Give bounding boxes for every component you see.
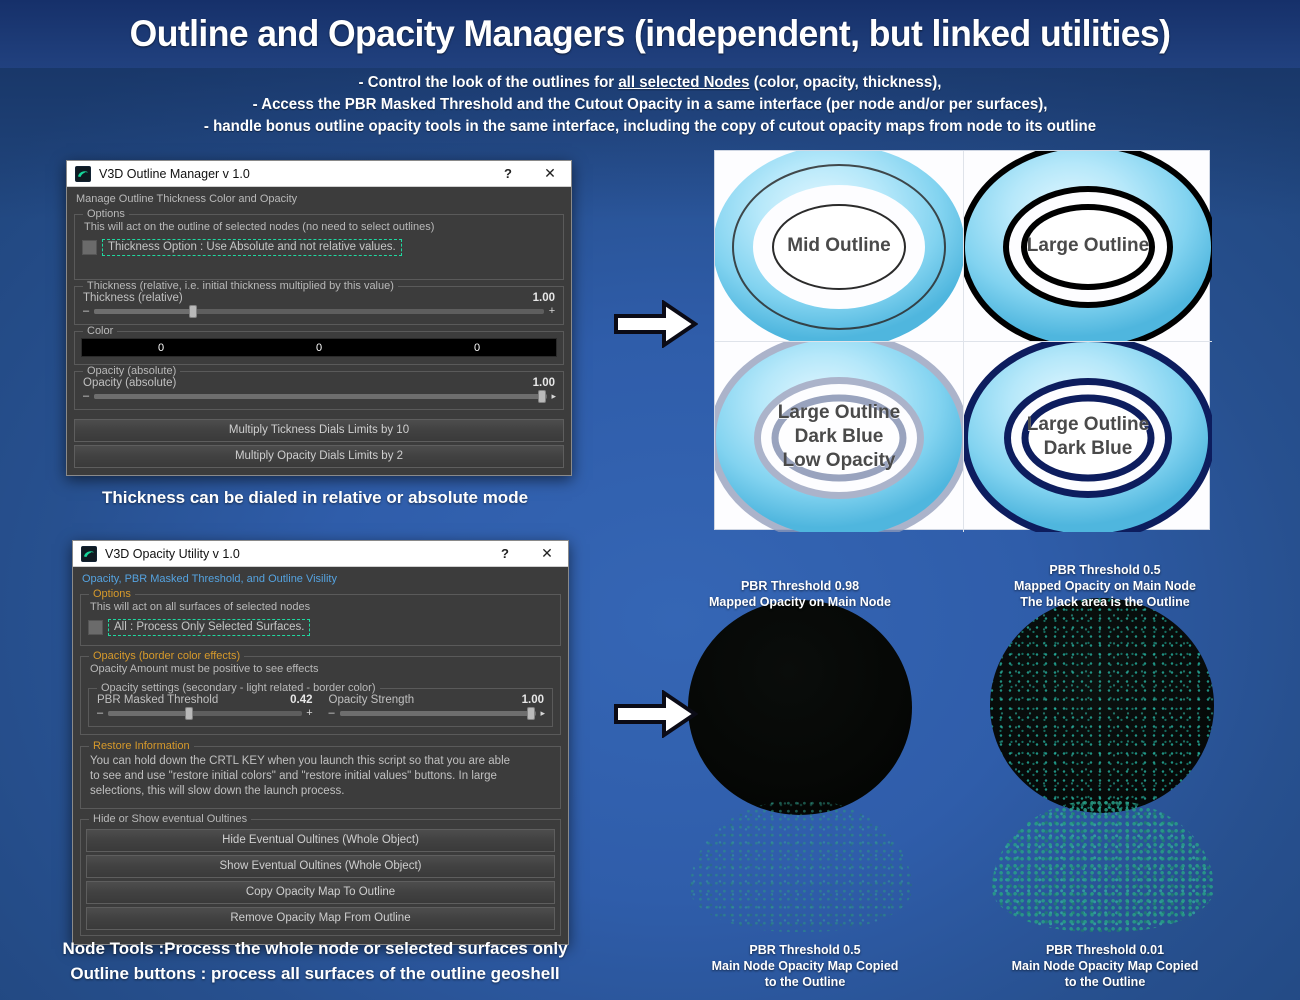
page-header: Outline and Opacity Managers (independen…: [0, 0, 1300, 68]
strength-dial-row: Opacity Strength 1.00: [326, 693, 548, 706]
help-button[interactable]: ?: [484, 541, 526, 567]
outlines-group: Hide or Show eventual Oultines Hide Even…: [80, 819, 561, 936]
app-logo-icon: [81, 546, 97, 562]
thickness-option-row[interactable]: Thickness Option : Use Absolute and not …: [80, 236, 558, 260]
color-channel-g[interactable]: 0: [240, 342, 398, 354]
outline-manager-titlebar[interactable]: V3D Outline Manager v 1.0 ? ✕: [67, 161, 571, 187]
node-tools-caption-line-1: Node Tools :Process the whole node or se…: [0, 936, 630, 961]
restore-information-group: Restore Information You can hold down th…: [80, 746, 561, 809]
arrow-right-icon-bottom: [614, 690, 698, 743]
hide-outlines-button[interactable]: Hide Eventual Oultines (Whole Object): [86, 829, 555, 852]
opacity-label: Opacity (absolute): [83, 377, 176, 389]
opacity-options-legend: Options: [89, 588, 135, 600]
torus-cell-large-dark-blue: Large Outline Dark Blue: [963, 341, 1212, 532]
outline-manager-body: Manage Outline Thickness Color and Opaci…: [67, 187, 571, 475]
close-icon[interactable]: ✕: [529, 161, 571, 187]
outlines-legend: Hide or Show eventual Oultines: [89, 813, 251, 825]
opacity-settings-legend: Opacity settings (secondary - light rela…: [97, 682, 380, 694]
pbr-threshold-slider[interactable]: – +: [94, 706, 316, 721]
strength-slider-knob[interactable]: [527, 707, 535, 720]
sphere-caption-bottom-right: PBR Threshold 0.01 Main Node Opacity Map…: [990, 942, 1220, 990]
restore-info-line-2: to see and use "restore initial colors" …: [90, 769, 551, 784]
opacitys-note: Opacity Amount must be positive to see e…: [86, 661, 555, 678]
opacitys-legend: Opacitys (border color effects): [89, 650, 244, 662]
opacity-utility-titlebar[interactable]: V3D Opacity Utility v 1.0 ? ✕: [73, 541, 568, 567]
opacity-group-legend: Opacity (absolute): [83, 365, 180, 377]
opacity-value: 1.00: [533, 377, 555, 389]
subtitle-line-2: - Access the PBR Masked Threshold and th…: [20, 94, 1281, 116]
help-button[interactable]: ?: [487, 161, 529, 187]
opacity-decrement-icon[interactable]: –: [82, 390, 90, 402]
subtitle-line-3: - handle bonus outline opacity tools in …: [20, 116, 1281, 138]
opacity-slider-track[interactable]: [94, 394, 547, 399]
color-channel-b[interactable]: 0: [398, 342, 556, 354]
multiply-opacity-limits-button[interactable]: Multiply Opacity Dials Limits by 2: [74, 445, 564, 468]
thickness-increment-icon[interactable]: +: [548, 305, 556, 317]
page-title: Outline and Opacity Managers (independen…: [130, 13, 1171, 55]
outline-options-note: This will act on the outline of selected…: [80, 219, 558, 236]
close-icon[interactable]: ✕: [526, 541, 568, 567]
all-surfaces-row[interactable]: All : Process Only Selected Surfaces.: [86, 616, 555, 640]
color-group-legend: Color: [83, 325, 117, 337]
thickness-slider[interactable]: – +: [80, 304, 558, 319]
thickness-slider-knob[interactable]: [189, 305, 197, 318]
opacity-settings-group: Opacity settings (secondary - light rela…: [88, 688, 553, 727]
pbr-dial-row: PBR Masked Threshold 0.42: [94, 693, 316, 706]
outline-manager-dialog[interactable]: V3D Outline Manager v 1.0 ? ✕ Manage Out…: [66, 160, 572, 476]
torus-cell-large-dark-blue-low-opacity: Large Outline Dark Blue Low Opacity: [715, 341, 963, 532]
thickness-group-legend: Thickness (relative, i.e. initial thickn…: [83, 280, 398, 292]
node-tools-caption: Node Tools :Process the whole node or se…: [0, 936, 630, 986]
subtitle-line-1-part-a: - Control the look of the outlines for: [359, 74, 619, 91]
subtitle-line-1-part-b: (color, opacity, thickness),: [750, 74, 942, 91]
opacity-options-group: Options This will act on all surfaces of…: [80, 594, 561, 646]
subtitle-line-1-underlined: all selected Nodes: [618, 74, 749, 91]
outline-options-legend: Options: [83, 208, 129, 220]
outline-manager-title: V3D Outline Manager v 1.0: [99, 167, 487, 181]
copy-opacity-map-button[interactable]: Copy Opacity Map To Outline: [86, 881, 555, 904]
subtitle-block: - Control the look of the outlines for a…: [20, 72, 1281, 138]
color-group: Color 0 0 0: [74, 331, 564, 365]
torus-cell-mid-outline: Mid Outline: [715, 151, 963, 341]
color-swatch[interactable]: 0 0 0: [81, 338, 557, 357]
thickness-option-label[interactable]: Thickness Option : Use Absolute and not …: [102, 239, 402, 256]
sphere-pbr-05-main-node: [990, 598, 1214, 813]
all-surfaces-checkbox[interactable]: [88, 620, 103, 635]
thickness-label: Thickness (relative): [83, 292, 183, 304]
chevron-right-icon[interactable]: ▸: [551, 391, 556, 402]
outline-options-group: Options This will act on the outline of …: [74, 214, 564, 280]
app-logo-icon: [75, 166, 91, 182]
opacity-strength-slider[interactable]: – ▸: [326, 706, 548, 721]
restore-information-legend: Restore Information: [89, 740, 194, 752]
color-channel-r[interactable]: 0: [82, 342, 240, 354]
opacity-options-note: This will act on all surfaces of selecte…: [86, 599, 555, 616]
thickness-option-checkbox[interactable]: [82, 240, 97, 255]
thickness-value: 1.00: [533, 292, 555, 304]
thickness-decrement-icon[interactable]: –: [82, 305, 90, 317]
sphere-caption-top-left: PBR Threshold 0.98 Mapped Opacity on Mai…: [690, 578, 910, 610]
pbr-slider-track[interactable]: [108, 711, 302, 716]
pbr-slider-knob[interactable]: [185, 707, 193, 720]
restore-info-line-1: You can hold down the CRTL KEY when you …: [90, 754, 551, 769]
all-surfaces-label[interactable]: All : Process Only Selected Surfaces.: [108, 619, 310, 636]
strength-decrement-icon[interactable]: –: [328, 707, 336, 719]
sphere-pbr-098: [688, 600, 912, 815]
opacity-utility-dialog[interactable]: V3D Opacity Utility v 1.0 ? ✕ Opacity, P…: [72, 540, 569, 945]
opacity-slider[interactable]: – ▸: [80, 389, 558, 404]
restore-info-line-3: selections, this will slow down the laun…: [90, 784, 551, 799]
pbr-threshold-label: PBR Masked Threshold: [97, 694, 218, 706]
pbr-decrement-icon[interactable]: –: [96, 707, 104, 719]
opacity-group: Opacity (absolute) Opacity (absolute) 1.…: [74, 371, 564, 410]
torus-label-large-outline: Large Outline: [1027, 234, 1149, 258]
thickness-group: Thickness (relative, i.e. initial thickn…: [74, 286, 564, 325]
thickness-caption: Thickness can be dialed in relative or a…: [0, 488, 630, 508]
opacity-utility-title: V3D Opacity Utility v 1.0: [105, 547, 484, 561]
opacitys-group: Opacitys (border color effects) Opacity …: [80, 656, 561, 735]
remove-opacity-map-button[interactable]: Remove Opacity Map From Outline: [86, 907, 555, 930]
sphere-caption-bottom-left: PBR Threshold 0.5 Main Node Opacity Map …: [690, 942, 920, 990]
opacity-utility-section-title: Opacity, PBR Masked Threshold, and Outli…: [78, 571, 563, 588]
outline-manager-section-title: Manage Outline Thickness Color and Opaci…: [72, 191, 566, 208]
multiply-thickness-limits-button[interactable]: Multiply Tickness Dials Limits by 10: [74, 419, 564, 442]
torus-label-large-dark-blue-low-opacity: Large Outline Dark Blue Low Opacity: [778, 401, 900, 473]
pbr-threshold-value: 0.42: [290, 694, 312, 706]
restore-information-text: You can hold down the CRTL KEY when you …: [86, 751, 555, 803]
opacity-dial-row: Opacity (absolute) 1.00: [80, 376, 558, 389]
pbr-increment-icon[interactable]: +: [306, 707, 314, 719]
node-tools-caption-line-2: Outline buttons : process all surfaces o…: [0, 961, 630, 986]
sphere-caption-top-right: PBR Threshold 0.5 Mapped Opacity on Main…: [990, 562, 1220, 610]
opacity-slider-knob[interactable]: [538, 390, 546, 403]
strength-slider-track[interactable]: [340, 711, 537, 716]
opacity-utility-body: Opacity, PBR Masked Threshold, and Outli…: [73, 567, 568, 944]
show-outlines-button[interactable]: Show Eventual Oultines (Whole Object): [86, 855, 555, 878]
thickness-dial-row: Thickness (relative) 1.00: [80, 291, 558, 304]
chevron-right-icon[interactable]: ▸: [540, 708, 545, 719]
arrow-right-icon-top: [614, 300, 698, 353]
subtitle-line-1: - Control the look of the outlines for a…: [20, 72, 1281, 94]
outline-examples-panel: Mid Outline Large Outline Large Outline …: [714, 150, 1210, 530]
torus-cell-large-outline: Large Outline: [963, 151, 1212, 341]
torus-label-mid-outline: Mid Outline: [787, 234, 890, 258]
torus-label-large-dark-blue: Large Outline Dark Blue: [1027, 413, 1149, 461]
opacity-strength-value: 1.00: [522, 694, 544, 706]
thickness-slider-track[interactable]: [94, 309, 544, 314]
opacity-strength-label: Opacity Strength: [329, 694, 415, 706]
